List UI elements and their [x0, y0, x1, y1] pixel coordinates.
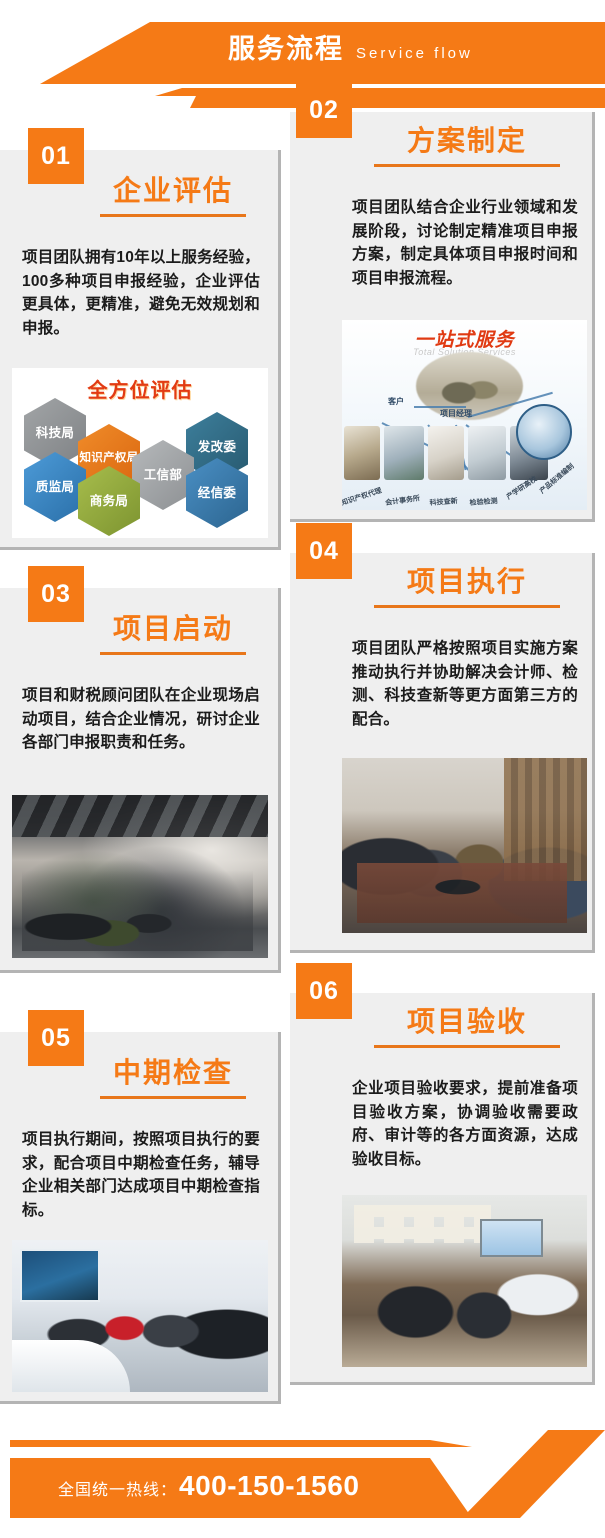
step-description: 项目团队严格按照项目实施方案推动执行并协助解决会计师、检测、科技查新等更方面第三…	[352, 637, 578, 731]
title-underline	[100, 1096, 246, 1099]
title-underline	[374, 605, 560, 608]
step-title: 项目启动	[84, 614, 262, 645]
step-card-05[interactable]: 05 中期检查 项目执行期间，按照项目执行的要求，配合项目中期检查任务，辅导企业…	[0, 1032, 281, 1404]
step-title: 中期检查	[84, 1058, 262, 1089]
hex-node-gongxin: 工信部	[132, 440, 194, 510]
step-title-wrap: 企业评估	[84, 176, 262, 217]
service-flow-poster: 服务流程 Service flow 01 企业评估 项目团队拥有10年以上服务经…	[0, 0, 605, 1538]
photo-boardroom	[342, 1195, 587, 1367]
title-underline	[100, 652, 246, 655]
assessment-hex-diagram: 全方位评估 科技局 知识产权局 发改委 质监局 工信部 商务局 经信委	[12, 368, 268, 538]
step-description: 项目团队拥有10年以上服务经验，100多种项目申报经验，企业评估更具体，更精准，…	[22, 246, 260, 340]
step-card-06[interactable]: 06 项目验收 企业项目验收要求，提前准备项目验收方案，协调验收需要政府、审计等…	[290, 993, 595, 1385]
photo-showroom-group	[12, 1240, 268, 1392]
title-underline	[374, 1045, 560, 1048]
step-description: 项目和财税顾问团队在企业现场启动项目，结合企业情况，研讨企业各部门申报职责和任务…	[22, 684, 260, 755]
certification-seal-icon	[516, 404, 572, 460]
footer-hotline-group[interactable]: 全国统一热线： 400-150-1560	[58, 1470, 359, 1502]
thumb-accounting	[384, 426, 424, 479]
thumb-ip-agency	[344, 426, 380, 479]
title-underline	[374, 164, 560, 167]
photo-surface	[342, 1195, 587, 1367]
step-description: 项目团队结合企业行业领域和发展阶段，讨论制定精准项目申报方案，制定具体项目申报时…	[352, 196, 578, 290]
thumb-tech-search	[428, 426, 464, 479]
step-title-wrap: 项目验收	[358, 1007, 576, 1048]
page-title: 服务流程	[228, 36, 344, 63]
step-number-badge: 02	[296, 82, 352, 138]
caption-ip-agency: 知识产权代理	[342, 486, 383, 508]
step-card-02[interactable]: 02 方案制定 项目团队结合企业行业领域和发展阶段，讨论制定精准项目申报方案，制…	[290, 112, 595, 522]
photo-surface	[12, 795, 268, 958]
step-number-badge: 01	[28, 128, 84, 184]
caption-accounting: 会计事务所	[385, 493, 421, 508]
step-number-badge: 06	[296, 963, 352, 1019]
step-title-wrap: 方案制定	[358, 126, 576, 167]
page-subtitle: Service flow	[356, 46, 473, 61]
caption-inspection: 检验检测	[469, 496, 498, 508]
hotline-label: 全国统一热线：	[58, 1476, 177, 1500]
thumb-inspection	[468, 426, 506, 479]
flow-node-manager: 项目经理	[440, 408, 472, 419]
hotline-number[interactable]: 400-150-1560	[179, 1470, 359, 1502]
photo-conference-room	[12, 795, 268, 958]
step-title-wrap: 项目执行	[358, 567, 576, 608]
step-description: 项目执行期间，按照项目执行的要求，配合项目中期检查任务，辅导企业相关部门达成项目…	[22, 1128, 260, 1222]
step-card-03[interactable]: 03 项目启动 项目和财税顾问团队在企业现场启动项目，结合企业情况，研讨企业各部…	[0, 588, 281, 973]
step-number-badge: 04	[296, 523, 352, 579]
step-number-badge: 03	[28, 566, 84, 622]
step-number-badge: 05	[28, 1010, 84, 1066]
hex-diagram-title: 全方位评估	[88, 374, 193, 403]
step-title: 项目执行	[358, 567, 576, 598]
one-stop-service-diagram: 一站式服务 Total Solution Services 客户 项目经理 知识…	[342, 320, 587, 510]
step-title: 项目验收	[358, 1007, 576, 1038]
title-underline	[100, 214, 246, 217]
photo-laptop-meeting	[342, 758, 587, 933]
step-card-01[interactable]: 01 企业评估 项目团队拥有10年以上服务经验，100多种项目申报经验，企业评估…	[0, 150, 281, 550]
step-title-wrap: 项目启动	[84, 614, 262, 655]
page-footer: 全国统一热线： 400-150-1560	[0, 1418, 605, 1538]
step-card-04[interactable]: 04 项目执行 项目团队严格按照项目实施方案推动执行并协助解决会计师、检测、科技…	[290, 553, 595, 953]
header-title-group: 服务流程 Service flow	[228, 36, 473, 63]
photo-surface	[342, 758, 587, 933]
step-title-wrap: 中期检查	[84, 1058, 262, 1099]
step-title: 方案制定	[358, 126, 576, 157]
flow-node-customer: 客户	[388, 396, 404, 407]
step-title: 企业评估	[84, 176, 262, 207]
photo-surface	[12, 1240, 268, 1392]
hex-node-zhijian: 质监局	[24, 452, 86, 522]
caption-tech-search: 科技查新	[429, 496, 458, 508]
step-description: 企业项目验收要求，提前准备项目验收方案，协调验收需要政府、审计等的各方面资源，达…	[352, 1077, 578, 1171]
one-stop-service-canvas: 一站式服务 Total Solution Services 客户 项目经理 知识…	[342, 320, 587, 510]
hex-diagram-canvas: 全方位评估 科技局 知识产权局 发改委 质监局 工信部 商务局 经信委	[12, 368, 268, 538]
footer-stripe	[10, 1440, 605, 1447]
